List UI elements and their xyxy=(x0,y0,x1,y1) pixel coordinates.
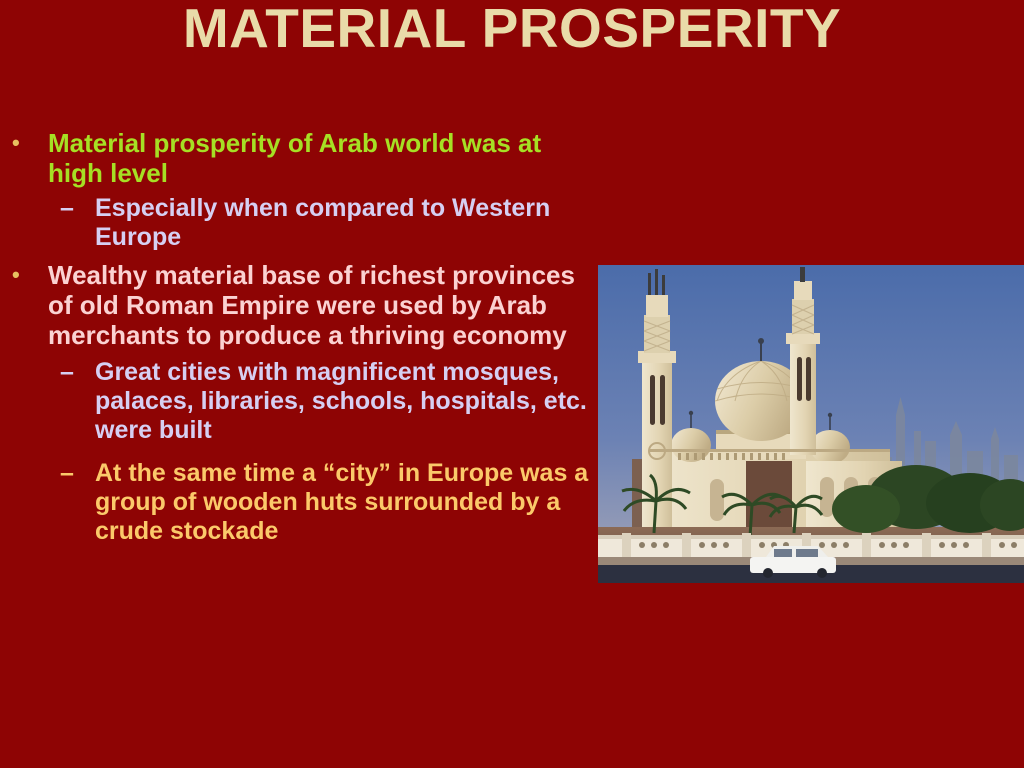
list-item: – At the same time a “city” in Europe wa… xyxy=(0,459,600,546)
list-item-text: Wealthy material base of richest provinc… xyxy=(48,260,600,350)
dash-marker-icon: – xyxy=(0,459,95,488)
list-item-text: At the same time a “city” in Europe was … xyxy=(95,459,600,546)
bullet-marker-icon: • xyxy=(0,128,48,158)
spacer xyxy=(0,252,600,260)
list-item-text: Material prosperity of Arab world was at… xyxy=(48,128,600,188)
spacer xyxy=(0,350,600,358)
page-title: MATERIAL PROSPERITY xyxy=(0,0,1024,58)
list-item: • Material prosperity of Arab world was … xyxy=(0,128,600,188)
mosque-photo xyxy=(598,265,1024,583)
list-item: – Especially when compared to Western Eu… xyxy=(0,194,600,252)
dash-marker-icon: – xyxy=(0,358,95,387)
dash-marker-icon: – xyxy=(0,194,95,223)
bullet-marker-icon: • xyxy=(0,260,48,290)
mosque-photo-illustration xyxy=(598,265,1024,583)
list-item-text: Great cities with magnificent mosques, p… xyxy=(95,358,600,445)
bullet-list: • Material prosperity of Arab world was … xyxy=(0,128,600,546)
list-item-text: Especially when compared to Western Euro… xyxy=(95,194,600,252)
list-item: • Wealthy material base of richest provi… xyxy=(0,260,600,350)
spacer xyxy=(0,445,600,459)
slide-canvas: MATERIAL PROSPERITY • Material prosperit… xyxy=(0,0,1024,768)
list-item: – Great cities with magnificent mosques,… xyxy=(0,358,600,445)
